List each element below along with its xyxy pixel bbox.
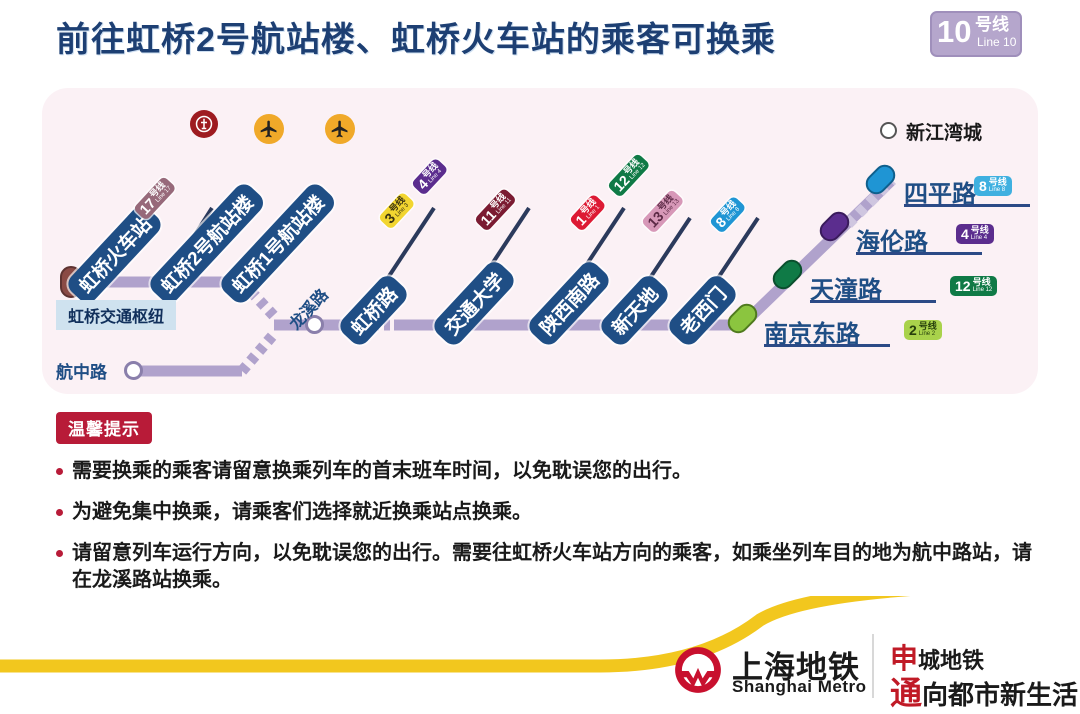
airport-icon [325,114,355,144]
tips-badge: 温馨提示 [56,412,152,444]
underline-east-nanjing-road [764,344,890,347]
station-label-xinjiangwancheng[interactable]: 新江湾城 [906,118,982,145]
line-cn-suffix: 号线 [975,16,1009,33]
line-en-label: Line 10 [977,36,1016,48]
lower-branch-dashed [242,334,274,371]
header: 前往虹桥2号航站楼、虹桥火车站的乘客可换乘 10 号线 Line 10 [0,0,1080,78]
brand-name-en: Shanghai Metro [732,677,867,697]
line-badge-2[interactable]: 2 号线 Line 2 [904,320,942,340]
station-dot-hangzhong-road[interactable] [124,361,143,380]
bullet-icon [56,468,63,475]
tip-text: 为避免集中换乘，请乘客们选择就近换乘站点换乘。 [72,499,532,526]
bullet-icon [56,550,63,557]
railway-icon [190,110,218,138]
slogan-rest-2: 向都市新生活 [922,680,1078,710]
slogan-line-2: 通向都市新生活 [890,668,1078,714]
underline-hailun-road [856,252,982,255]
metro-line-diagram: 虹桥火车站 虹桥2号航站楼 虹桥1号航站楼 虹桥路 交通大学 陕西南路 新天地 … [42,88,1038,394]
tip-item: 需要换乘的乘客请留意换乘列车的首末班车时间，以免耽误您的出行。 [56,458,1046,485]
header-line10-badge: 10 号线 Line 10 [930,11,1022,57]
tip-text: 需要换乘的乘客请留意换乘列车的首末班车时间，以免耽误您的出行。 [72,458,692,485]
page-title: 前往虹桥2号航站楼、虹桥火车站的乘客可换乘 [56,12,776,61]
shanghai-metro-logo [672,644,724,696]
hub-label-hongqiao-transport-hub: 虹桥交通枢纽 [56,300,176,330]
tips-section: 温馨提示 需要换乘的乘客请留意换乘列车的首末班车时间，以免耽误您的出行。 为避免… [56,412,1046,594]
station-label-hangzhong-road[interactable]: 航中路 [56,358,107,383]
tip-text: 请留意列车运行方向，以免耽误您的出行。需要往虹桥火车站方向的乘客，如乘坐列车目的… [72,540,1046,594]
airport-icon [254,114,284,144]
slogan-char-tong: 通 [890,675,922,711]
line-badge-4[interactable]: 4 号线 Line 4 [956,224,994,244]
footer-divider [872,634,874,698]
tip-item: 为避免集中换乘，请乘客们选择就近换乘站点换乘。 [56,499,1046,526]
line-number: 10 [937,16,971,47]
line-badge-8[interactable]: 8 号线 Line 8 [974,176,1012,196]
station-dot-xinjiangwancheng[interactable] [880,122,897,139]
underline-tiantong-road [810,300,936,303]
line-badge-12[interactable]: 12 号线 Line 12 [950,276,997,296]
underline-siping-road [904,204,1030,207]
bullet-icon [56,509,63,516]
tip-item: 请留意列车运行方向，以免耽误您的出行。需要往虹桥火车站方向的乘客，如乘坐列车目的… [56,540,1046,594]
